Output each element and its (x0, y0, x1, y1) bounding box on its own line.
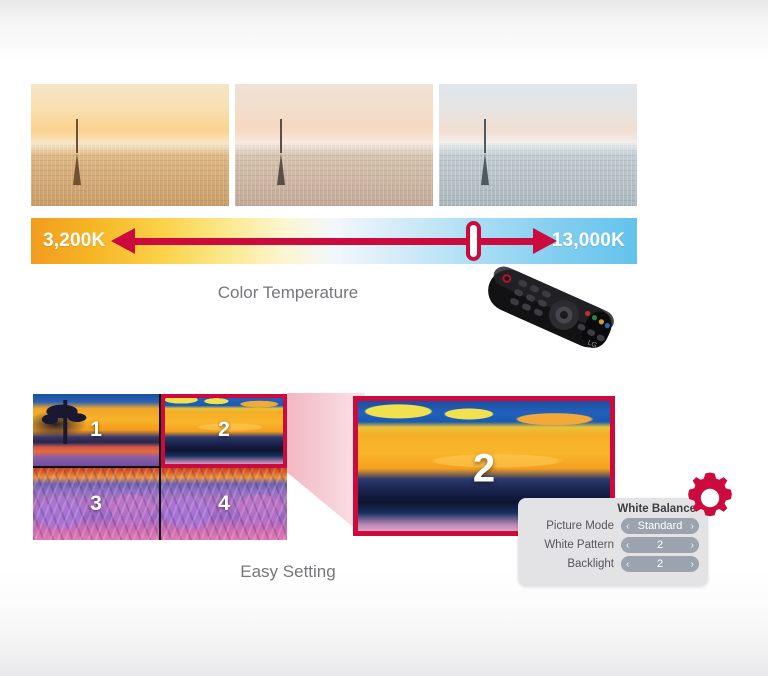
menu-row-label: Picture Mode (546, 520, 614, 532)
grid-cell-number: 1 (90, 418, 102, 442)
menu-row-picture-mode[interactable]: Picture Mode ‹ Standard › (527, 518, 699, 534)
menu-row-label: Backlight (567, 558, 614, 570)
temperature-min-label: 3,200K (43, 230, 105, 252)
eiffel-tower-icon (73, 153, 81, 185)
menu-row-stepper[interactable]: ‹ 2 › (621, 556, 699, 572)
preview-panel-neutral (235, 84, 433, 206)
chevron-right-icon[interactable]: › (691, 559, 694, 570)
gear-icon (682, 470, 738, 526)
enlarged-panel-number: 2 (473, 446, 495, 491)
horizon-haze (31, 130, 229, 154)
arrow-right-icon (533, 228, 557, 254)
chevron-right-icon[interactable]: › (691, 540, 694, 551)
menu-row-stepper[interactable]: ‹ 2 › (621, 537, 699, 553)
illustration-stage: 3,200K 13,000K Color Temperature (0, 0, 768, 676)
chevron-left-icon[interactable]: ‹ (626, 559, 629, 570)
tv-remote-icon: LG (468, 253, 628, 365)
menu-row-value: 2 (629, 558, 690, 570)
preview-panel-cool (439, 84, 637, 206)
grid-cell-number: 4 (218, 492, 230, 516)
horizon-haze (439, 130, 637, 154)
chevron-left-icon[interactable]: ‹ (626, 540, 629, 551)
menu-row-white-pattern[interactable]: White Pattern ‹ 2 › (527, 537, 699, 553)
temperature-max-label: 13,000K (552, 230, 625, 252)
grid-cell-1[interactable]: 1 (33, 394, 159, 466)
color-temperature-preview-row (31, 84, 637, 206)
menu-row-backlight[interactable]: Backlight ‹ 2 › (527, 556, 699, 572)
white-balance-menu[interactable]: White Balance Picture Mode ‹ Standard › … (518, 498, 708, 586)
easy-setting-grid: 1 2 3 4 (33, 394, 287, 540)
grid-cell-4[interactable]: 4 (161, 468, 287, 540)
arrow-left-icon (111, 228, 135, 254)
horizon-haze (235, 130, 433, 154)
grid-cell-3[interactable]: 3 (33, 468, 159, 540)
selected-cell-highlight (161, 394, 287, 468)
grid-cell-number: 3 (90, 492, 102, 516)
eiffel-tower-icon (277, 153, 285, 185)
chevron-left-icon[interactable]: ‹ (626, 521, 629, 532)
eiffel-tower-icon (481, 153, 489, 185)
menu-row-value: 2 (629, 539, 690, 551)
menu-row-label: White Pattern (544, 539, 614, 551)
preview-panel-warm (31, 84, 229, 206)
white-balance-title: White Balance (527, 503, 699, 515)
